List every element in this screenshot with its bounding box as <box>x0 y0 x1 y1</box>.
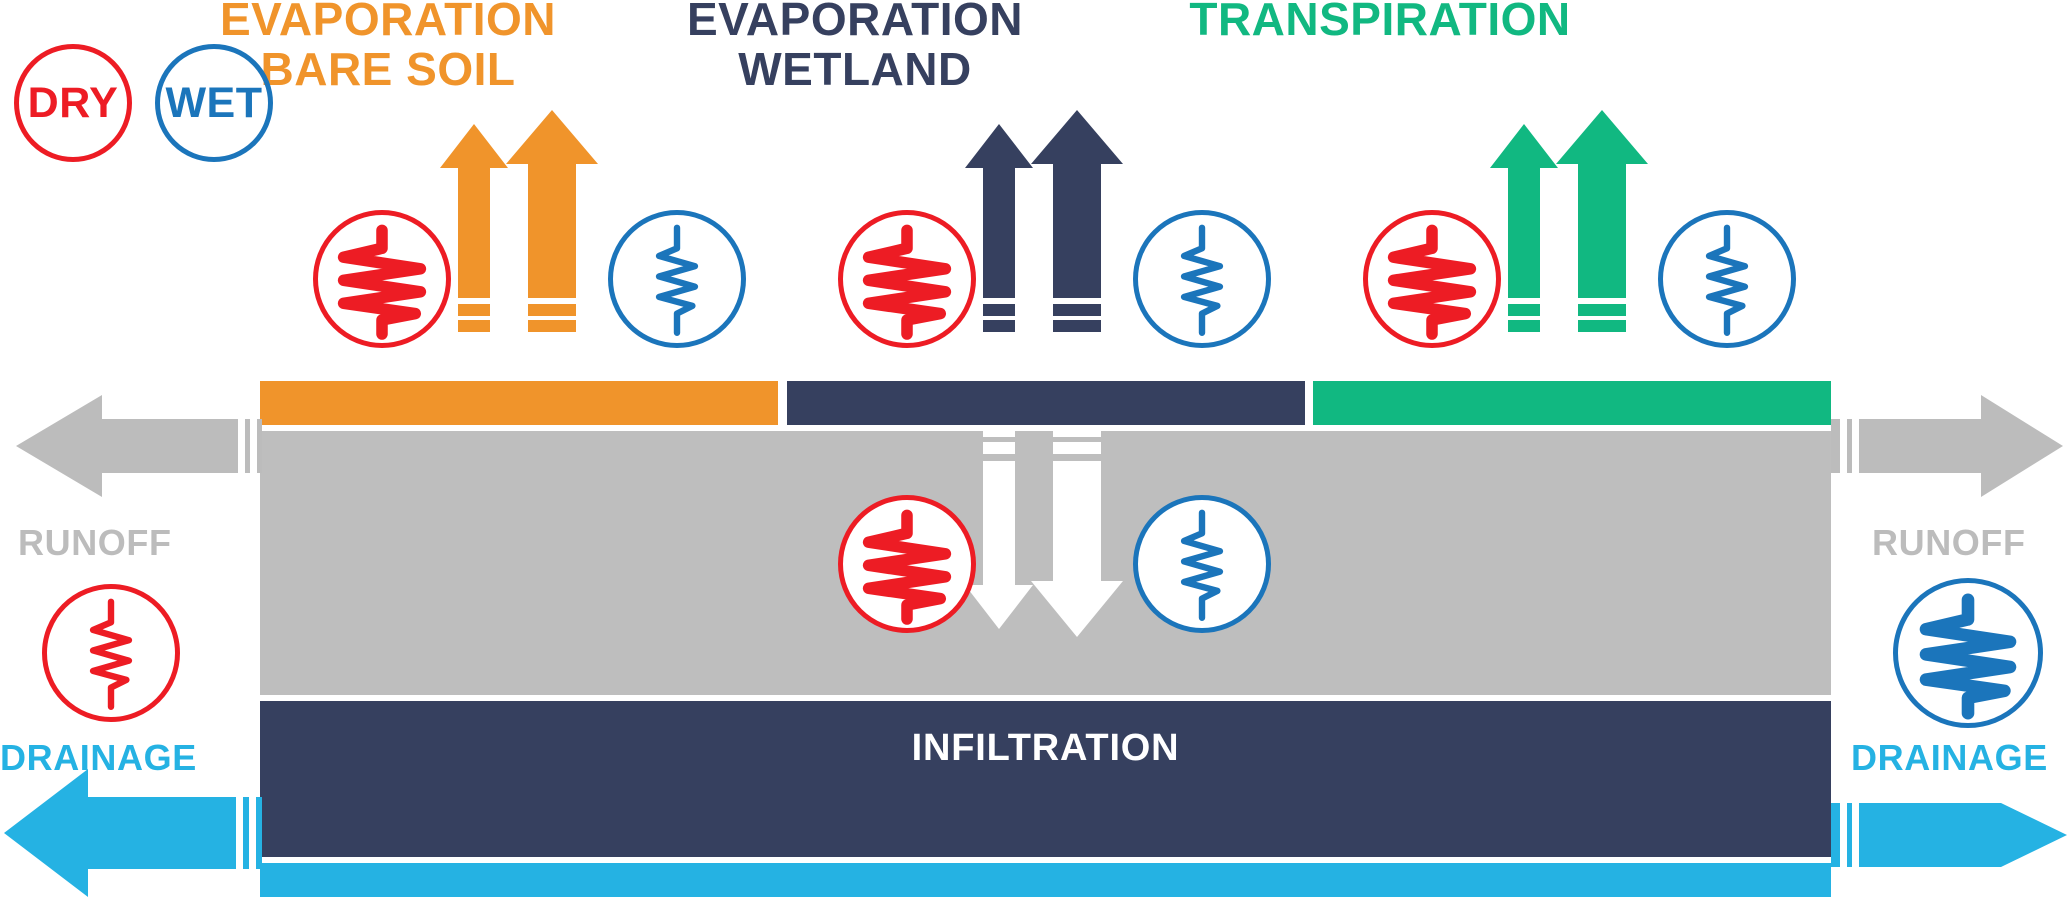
arrow-wet-bare-soil <box>506 110 598 332</box>
heading-transpiration-text: TRANSPIRATION <box>1160 0 1600 44</box>
arrow-dry-wetland <box>965 124 1033 332</box>
water-balance-diagram: EVAPORATION BARE SOIL EVAPORATION WETLAN… <box>0 0 2067 897</box>
infiltration-label: INFILTRATION <box>260 727 1831 770</box>
wet-indicator-infiltration <box>1133 495 1271 633</box>
spring-coil-narrow-icon <box>1138 215 1266 343</box>
spring-coil-wide-icon <box>318 215 446 343</box>
runoff-arrow-left <box>10 391 262 501</box>
arrow-pair-bare-soil <box>430 108 620 373</box>
arrow-dry-infiltration <box>965 425 1033 629</box>
drainage-label-right: DRAINAGE <box>1851 737 2048 779</box>
heading-evaporation-wetland: EVAPORATION WETLAND <box>640 0 1070 94</box>
runoff-arrow-right <box>1831 391 2067 501</box>
drainage-arrow-left <box>0 767 262 897</box>
arrow-wet-wetland <box>1031 110 1123 332</box>
drainage-indicator-left <box>42 584 180 722</box>
drainage-arrow-right <box>1831 795 2067 875</box>
dry-indicator-infiltration <box>838 495 976 633</box>
arrow-dry-bare-soil <box>440 124 508 332</box>
surface-band-wetland <box>787 381 1305 425</box>
legend-wet-circle: WET <box>155 44 273 162</box>
spring-coil-wide-icon <box>843 500 971 628</box>
spring-coil-narrow-icon <box>1138 500 1266 628</box>
arrow-wet-infiltration <box>1031 425 1123 637</box>
water-table-layer <box>260 863 1831 897</box>
infiltration-arrow-pair <box>955 425 1155 675</box>
spring-coil-narrow-icon <box>613 215 741 343</box>
heading-line-1: EVAPORATION <box>178 0 598 44</box>
drainage-indicator-right <box>1893 578 2043 728</box>
wet-indicator-transpiration <box>1658 210 1796 348</box>
surface-band-transpiration <box>1313 381 1831 425</box>
arrow-pair-wetland <box>955 108 1145 373</box>
spring-coil-wide-icon <box>843 215 971 343</box>
spring-coil-narrow-icon <box>1663 215 1791 343</box>
heading-line-1: EVAPORATION <box>640 0 1070 44</box>
arrow-dry-transpiration <box>1490 124 1558 332</box>
spring-coil-wide-icon <box>1368 215 1496 343</box>
runoff-label-left: RUNOFF <box>18 522 172 564</box>
legend-dry-circle: DRY <box>14 44 132 162</box>
spring-coil-narrow-icon <box>47 589 175 717</box>
arrow-wet-transpiration <box>1556 110 1648 332</box>
spring-coil-wide-icon <box>1898 583 2038 723</box>
runoff-label-right: RUNOFF <box>1872 522 2026 564</box>
wet-indicator-wetland <box>1133 210 1271 348</box>
wet-indicator-bare-soil <box>608 210 746 348</box>
arrow-pair-transpiration <box>1480 108 1670 373</box>
heading-line-1: TRANSPIRATION <box>1160 0 1600 44</box>
infiltration-layer <box>260 701 1831 857</box>
surface-band-bare-soil <box>260 381 778 425</box>
heading-line-2: WETLAND <box>640 44 1070 94</box>
legend-dry-label: DRY <box>28 79 119 128</box>
legend-wet-label: WET <box>165 79 262 128</box>
